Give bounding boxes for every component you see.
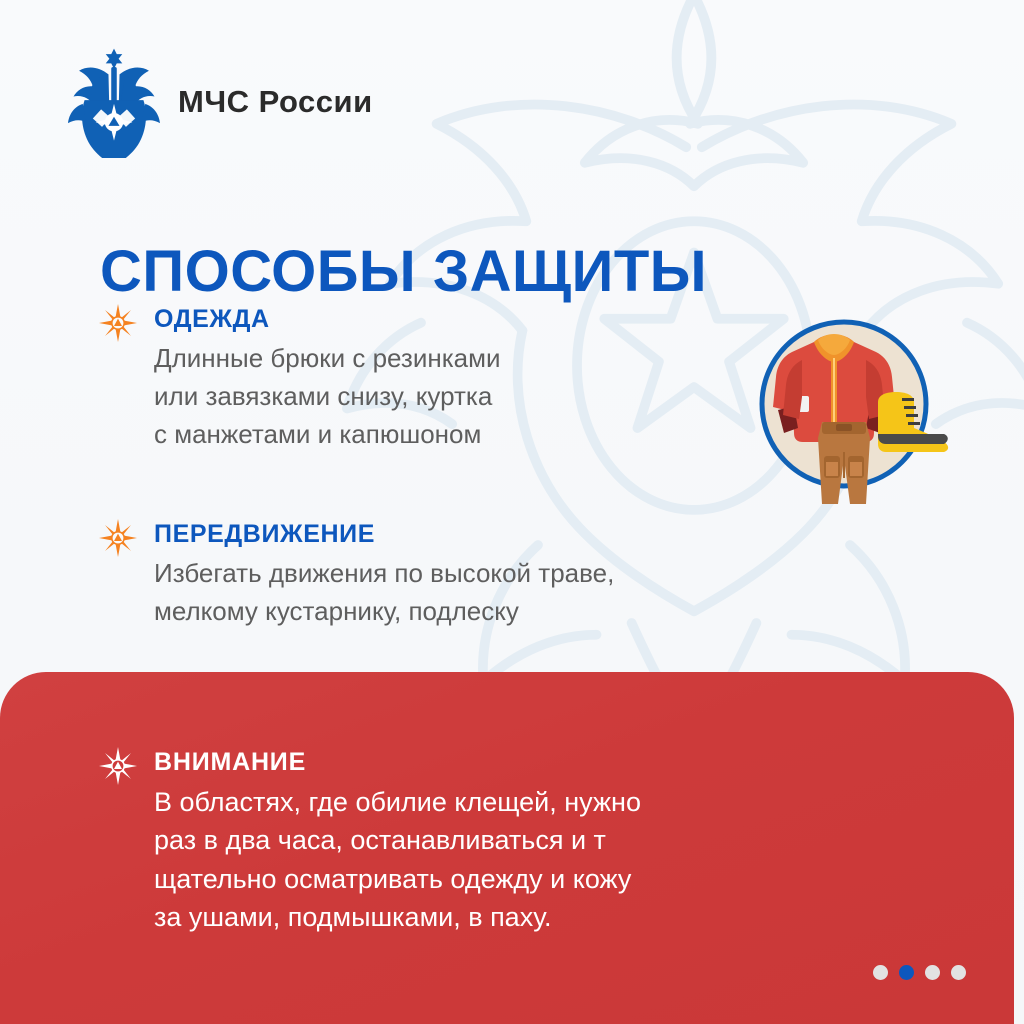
pagination-dot-3[interactable] (925, 965, 940, 980)
attention-heading: ВНИМАНИЕ (154, 748, 641, 777)
attention-text-line: щательно осматривать одежду и кожу (154, 860, 641, 898)
compass-star-icon (98, 518, 138, 558)
compass-star-icon (98, 746, 138, 786)
emercom-eagle-emblem-icon (68, 46, 160, 158)
attention-text: В областях, где обилие клещей, нужно раз… (154, 783, 641, 936)
brand-logo: МЧС России (68, 46, 373, 158)
section-text: Избегать движения по высокой траве, мелк… (154, 555, 614, 631)
pagination-dot-2[interactable] (899, 965, 914, 980)
section-text-line: с манжетами и капюшоном (154, 416, 501, 454)
attention-text-line: за ушами, подмышками, в паху. (154, 898, 641, 936)
section-text-line: или завязками снизу, куртка (154, 378, 501, 416)
attention-text-line: В областях, где обилие клещей, нужно (154, 783, 641, 821)
section-clothing: ОДЕЖДА Длинные брюки с резинками или зав… (98, 303, 501, 454)
section-heading: ОДЕЖДА (154, 305, 501, 334)
attention-text-line: раз в два часа, останавливаться и т (154, 821, 641, 859)
section-heading: ПЕРЕДВИЖЕНИЕ (154, 520, 614, 549)
attention-content: ВНИМАНИЕ В областях, где обилие клещей, … (98, 746, 641, 936)
section-text-line: Длинные брюки с резинками (154, 340, 501, 378)
protective-clothing-illustration (744, 306, 968, 510)
section-text: Длинные брюки с резинками или завязками … (154, 340, 501, 454)
section-text-line: мелкому кустарнику, подлеску (154, 593, 614, 631)
pagination-dot-4[interactable] (951, 965, 966, 980)
pagination-dot-1[interactable] (873, 965, 888, 980)
section-text-line: Избегать движения по высокой траве, (154, 555, 614, 593)
brand-name: МЧС России (178, 84, 373, 120)
pagination-dots[interactable] (873, 965, 966, 980)
attention-panel: ВНИМАНИЕ В областях, где обилие клещей, … (0, 672, 1014, 1024)
page-title: СПОСОБЫ ЗАЩИТЫ (100, 242, 707, 303)
infographic-poster: МЧС России СПОСОБЫ ЗАЩИТЫ (0, 0, 1024, 1024)
compass-star-icon (98, 303, 138, 343)
section-movement: ПЕРЕДВИЖЕНИЕ Избегать движения по высоко… (98, 518, 614, 631)
